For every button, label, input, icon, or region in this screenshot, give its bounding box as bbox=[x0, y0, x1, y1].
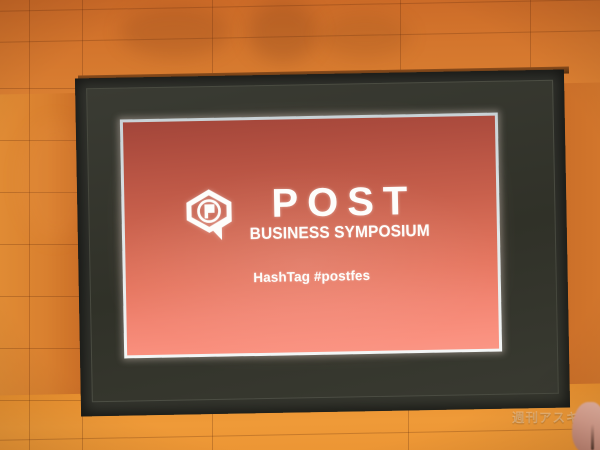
wall-seam bbox=[0, 400, 84, 401]
logo-lockup: POST BUSINESS SYMPOSIUM bbox=[185, 183, 436, 245]
conference-room-scene: POST BUSINESS SYMPOSIUM HashTag #postfes… bbox=[0, 0, 600, 450]
wall-seam bbox=[0, 244, 84, 245]
presentation-slide: POST BUSINESS SYMPOSIUM HashTag #postfes bbox=[123, 116, 499, 355]
wall-reflection bbox=[320, 14, 410, 58]
wall-seam bbox=[29, 0, 30, 450]
slide-subtitle: BUSINESS SYMPOSIUM bbox=[250, 223, 430, 244]
wall-reflection bbox=[248, 2, 318, 62]
wall-seam bbox=[0, 348, 84, 349]
slide-hashtag: HashTag #postfes bbox=[253, 268, 370, 285]
wall-seam bbox=[0, 296, 84, 297]
projection-screen: POST BUSINESS SYMPOSIUM HashTag #postfes bbox=[120, 113, 502, 358]
foreground-hair-strand bbox=[591, 424, 594, 450]
wall-reflection bbox=[120, 6, 230, 58]
wall-seam bbox=[0, 88, 84, 89]
projection-border: POST BUSINESS SYMPOSIUM HashTag #postfes bbox=[120, 113, 502, 358]
foreground-person-silhouette bbox=[572, 402, 600, 450]
slide-title: POST bbox=[262, 183, 417, 223]
wordmark: POST BUSINESS SYMPOSIUM bbox=[243, 183, 436, 244]
post-hexagon-speech-bubble-logo bbox=[185, 189, 233, 243]
